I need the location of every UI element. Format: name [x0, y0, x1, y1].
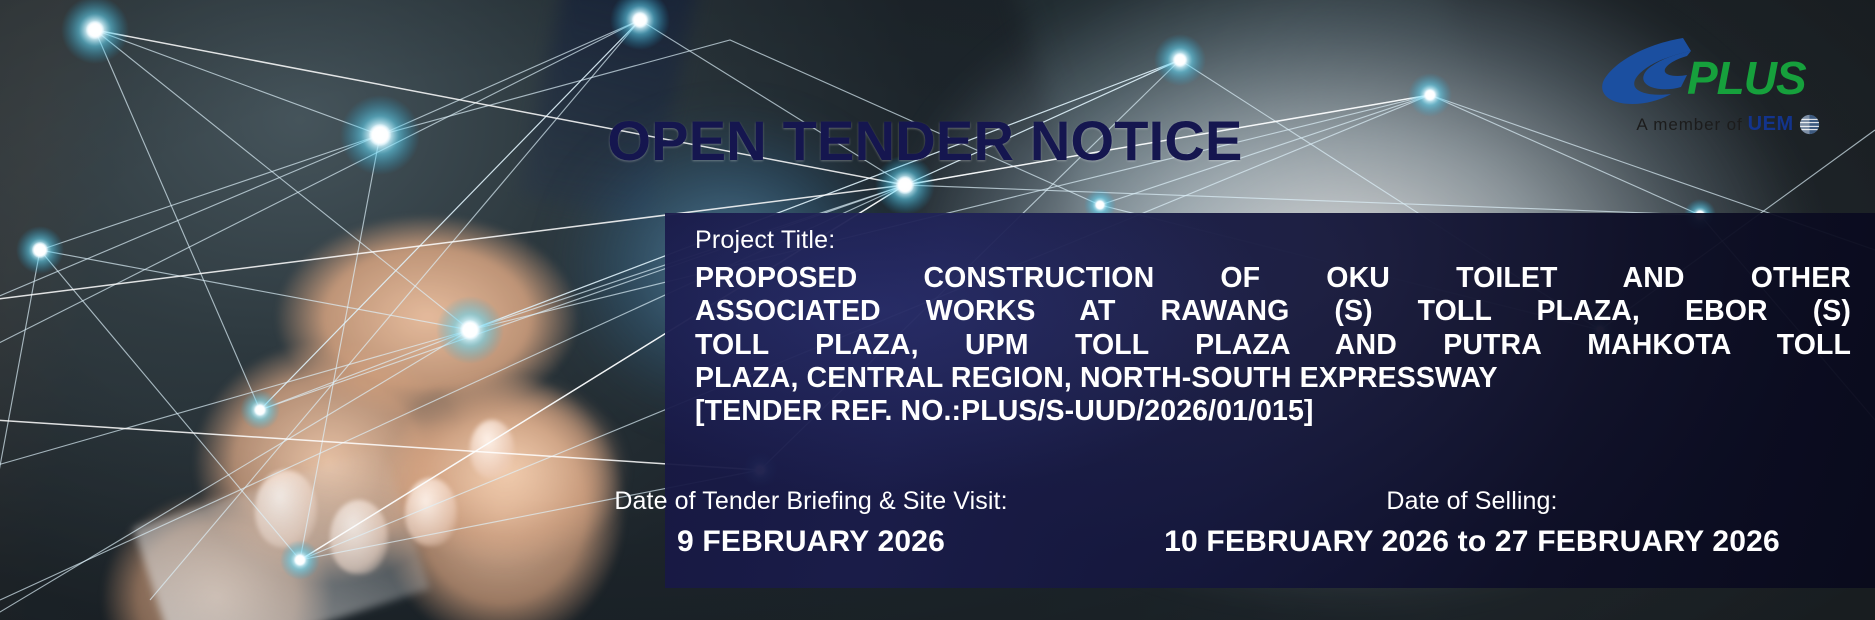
open-tender-notice-banner: OPEN TENDER NOTICE PLUS A member of UEM: [0, 0, 1875, 620]
tender-details-panel: Project Title: PROPOSED CONSTRUCTION OF …: [665, 213, 1875, 588]
uem-label: UEM: [1748, 113, 1794, 136]
plus-logo: PLUS A member of UEM: [1595, 32, 1861, 136]
tender-briefing-date-label: Date of Tender Briefing & Site Visit:: [561, 486, 1061, 517]
svg-text:PLUS: PLUS: [1687, 52, 1807, 104]
project-title-line: ASSOCIATED WORKS AT RAWANG (S) TOLL PLAZ…: [695, 295, 1851, 328]
tender-dates-row: Date of Tender Briefing & Site Visit: 9 …: [665, 478, 1875, 588]
project-title-text: PROPOSED CONSTRUCTION OF OKU TOILET AND …: [695, 262, 1851, 429]
page-title: OPEN TENDER NOTICE: [595, 112, 1255, 171]
project-title-label: Project Title:: [695, 225, 1851, 255]
project-title-line: PLAZA, CENTRAL REGION, NORTH-SOUTH EXPRE…: [695, 362, 1851, 395]
member-of-label: A member of: [1636, 115, 1742, 135]
uem-globe-icon: [1799, 114, 1820, 135]
selling-date-value: 10 FEBRUARY 2026 to 27 FEBRUARY 2026: [1077, 525, 1867, 559]
tender-briefing-date-block: Date of Tender Briefing & Site Visit: 9 …: [561, 486, 1061, 559]
tender-reference-line: [TENDER REF. NO.:PLUS/S-UUD/2026/01/015]: [695, 395, 1851, 428]
project-title-line: TOLL PLAZA, UPM TOLL PLAZA AND PUTRA MAH…: [695, 329, 1851, 362]
selling-date-block: Date of Selling: 10 FEBRUARY 2026 to 27 …: [1077, 486, 1867, 559]
plus-logo-member-line: A member of UEM: [1595, 113, 1861, 136]
selling-date-label: Date of Selling:: [1077, 486, 1867, 517]
tender-briefing-date-value: 9 FEBRUARY 2026: [561, 525, 1061, 559]
plus-logo-mark: PLUS: [1595, 32, 1861, 110]
project-title-line: PROPOSED CONSTRUCTION OF OKU TOILET AND …: [695, 262, 1851, 295]
